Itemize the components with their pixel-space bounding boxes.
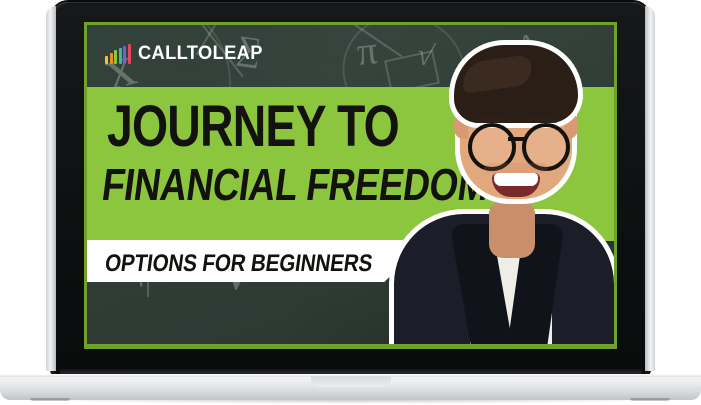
screen-inner-frame: x ∑ π √ Δ 5 9 2 6 + V ε f ∞ λ CALLTOLEAP [87, 25, 614, 344]
bar-chart-logo-icon [105, 44, 131, 64]
subtitle-text: OPTIONS FOR BEGINNERS [103, 250, 374, 278]
presenter-neck [489, 200, 535, 258]
logo-bar [110, 53, 113, 64]
logo-bar [105, 56, 108, 64]
brand-logo: CALLTOLEAP [105, 44, 267, 64]
brand-name: CALLTOLEAP [138, 44, 263, 64]
presenter-cutout [388, 25, 614, 344]
laptop-lid-edge-left [46, 6, 56, 371]
presenter-hair [454, 45, 578, 123]
logo-bar [123, 46, 126, 64]
logo-bar [119, 48, 122, 64]
logo-bar [114, 50, 117, 64]
presenter-teeth [494, 173, 538, 186]
glasses-bridge-icon [508, 137, 524, 141]
laptop-lid-edge-right [645, 6, 655, 371]
video-thumbnail[interactable]: x ∑ π √ Δ 5 9 2 6 + V ε f ∞ λ CALLTOLEAP [87, 25, 614, 344]
screenshot-stage: x ∑ π √ Δ 5 9 2 6 + V ε f ∞ λ CALLTOLEAP [0, 0, 701, 405]
title-line-1: JOURNEY TO [107, 101, 399, 152]
laptop-screen[interactable]: x ∑ π √ Δ 5 9 2 6 + V ε f ∞ λ CALLTOLEAP [84, 22, 617, 349]
laptop-base-notch [311, 376, 391, 387]
laptop-foot-right [630, 398, 670, 401]
logo-bar [128, 44, 131, 64]
laptop-foot-left [30, 398, 70, 401]
presenter-cheeks [484, 163, 548, 173]
chalk-mark: π [355, 30, 379, 72]
